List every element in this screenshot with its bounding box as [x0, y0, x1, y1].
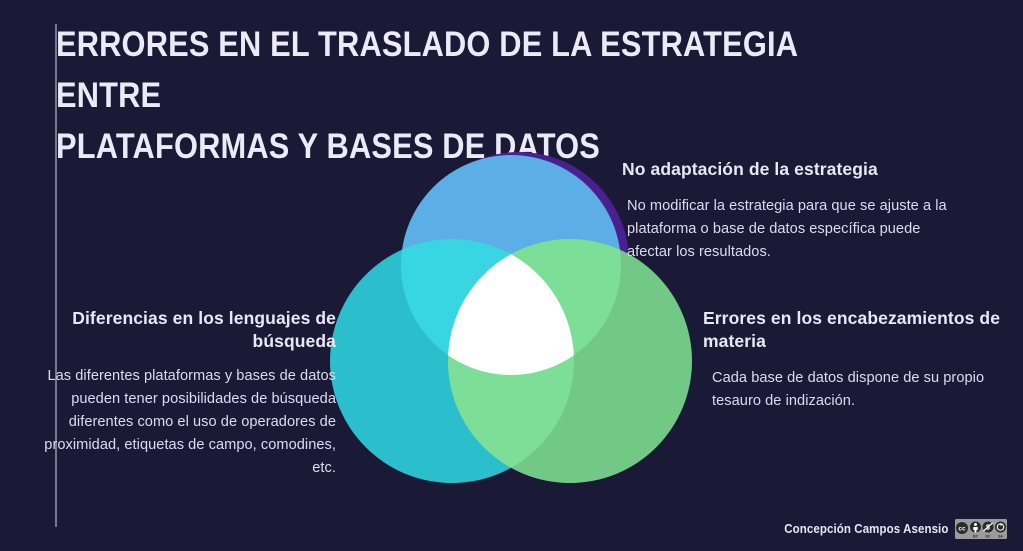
- svg-text:SA: SA: [998, 535, 1003, 539]
- venn-overlap-teal-green: [448, 239, 692, 483]
- text-block-lenguajes: Diferencias en los lenguajes de búsqueda…: [20, 307, 336, 480]
- svg-text:cc: cc: [958, 526, 966, 533]
- block-heading-lenguajes: Diferencias en los lenguajes de búsqueda: [20, 307, 336, 353]
- svg-text:NC: NC: [985, 535, 991, 539]
- venn-overlap-center: [448, 239, 692, 483]
- venn-overlap-blue-green: [448, 239, 692, 483]
- block-body-encabezamientos: Cada base de datos dispone de su propio …: [703, 367, 1003, 413]
- block-body-no-adaptacion: No modificar la estrategia para que se a…: [622, 195, 952, 264]
- page-title: ERRORES EN EL TRASLADO DE LA ESTRATEGIA …: [56, 20, 848, 172]
- author-name: Concepción Campos Asensio: [784, 522, 948, 536]
- block-heading-encabezamientos: Errores en los encabezamientos de materi…: [703, 307, 1003, 353]
- venn-overlap-blue-teal: [330, 239, 574, 483]
- infographic-slide: ERRORES EN EL TRASLADO DE LA ESTRATEGIA …: [0, 0, 1023, 551]
- text-block-no-adaptacion: No adaptación de la estrategia No modifi…: [622, 158, 952, 264]
- block-heading-no-adaptacion: No adaptación de la estrategia: [622, 158, 952, 181]
- block-body-lenguajes: Las diferentes plataformas y bases de da…: [20, 365, 336, 480]
- svg-text:BY: BY: [973, 535, 979, 539]
- creative-commons-badge[interactable]: cc BY $ NC SA: [955, 519, 1007, 539]
- text-block-encabezamientos: Errores en los encabezamientos de materi…: [703, 307, 1003, 413]
- credit-line: Concepción Campos Asensio cc BY $ NC: [770, 519, 1007, 539]
- venn-circle-right-green: [448, 239, 692, 483]
- venn-circle-left-teal: [330, 239, 574, 483]
- venn-circle-top-blue: [401, 155, 621, 375]
- cc-icon: cc: [956, 522, 968, 534]
- accent-sliver: [409, 152, 629, 372]
